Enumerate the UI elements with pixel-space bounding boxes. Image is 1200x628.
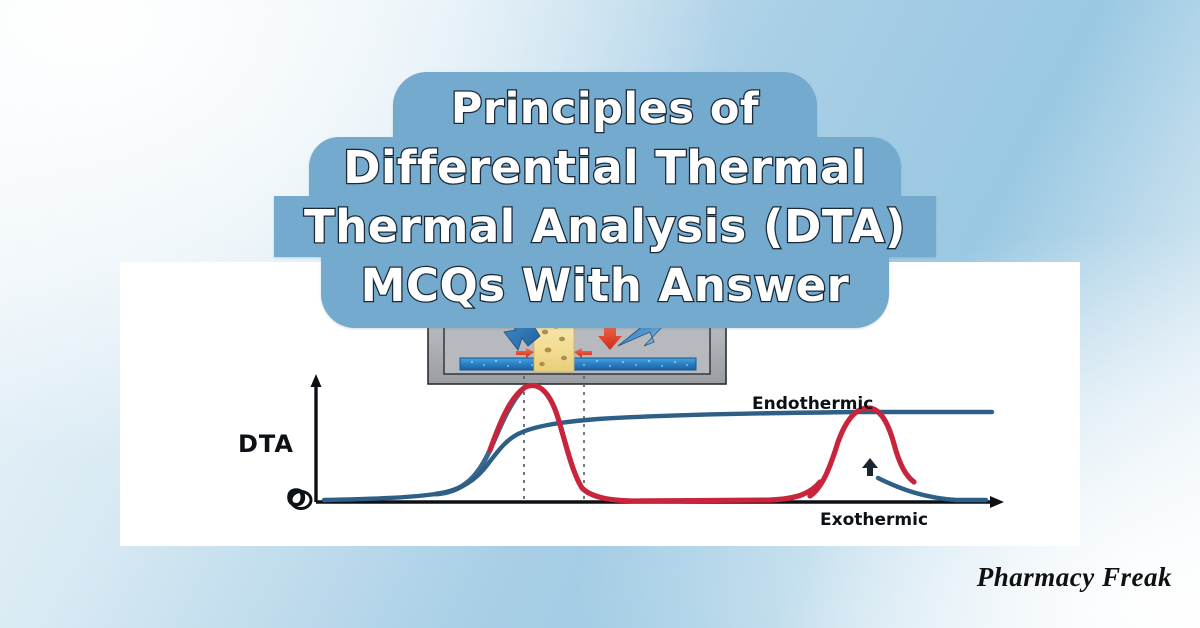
title-line-1: Principles of (393, 72, 817, 139)
series-dta-peak2 (810, 408, 914, 496)
series-baseline-sigmoid (324, 412, 992, 500)
poster-canvas: Principles of Differential Thermal Therm… (0, 0, 1200, 628)
x-axis-arrowhead (990, 496, 1004, 508)
title-line-4: MCQs With Answer (321, 255, 890, 328)
reference-pan (460, 358, 696, 370)
series-baseline-tail (878, 478, 986, 500)
y-axis-arrowhead (311, 374, 322, 387)
title-line-2: Differential Thermal (309, 137, 901, 198)
dta-chart-svg (120, 372, 1080, 544)
exothermic-annotation: Exothermic (820, 510, 928, 530)
endothermic-direction-arrow-icon (862, 458, 878, 476)
endothermic-annotation: Endothermic (752, 394, 873, 414)
dta-chart: DTA O Endothermic Exothermic (120, 372, 1080, 544)
title-bubble: Principles of Differential Thermal Therm… (210, 72, 1000, 328)
y-axis-label: DTA (238, 430, 294, 458)
watermark-pharmacy-freak: Pharmacy Freak (977, 562, 1172, 593)
series-dta-peak1 (490, 386, 680, 501)
title-line-3: Thermal Analysis (DTA) (274, 196, 936, 257)
series-dta-baseline (640, 482, 820, 501)
origin-label: O (286, 484, 306, 512)
dashed-guides (524, 372, 584, 502)
